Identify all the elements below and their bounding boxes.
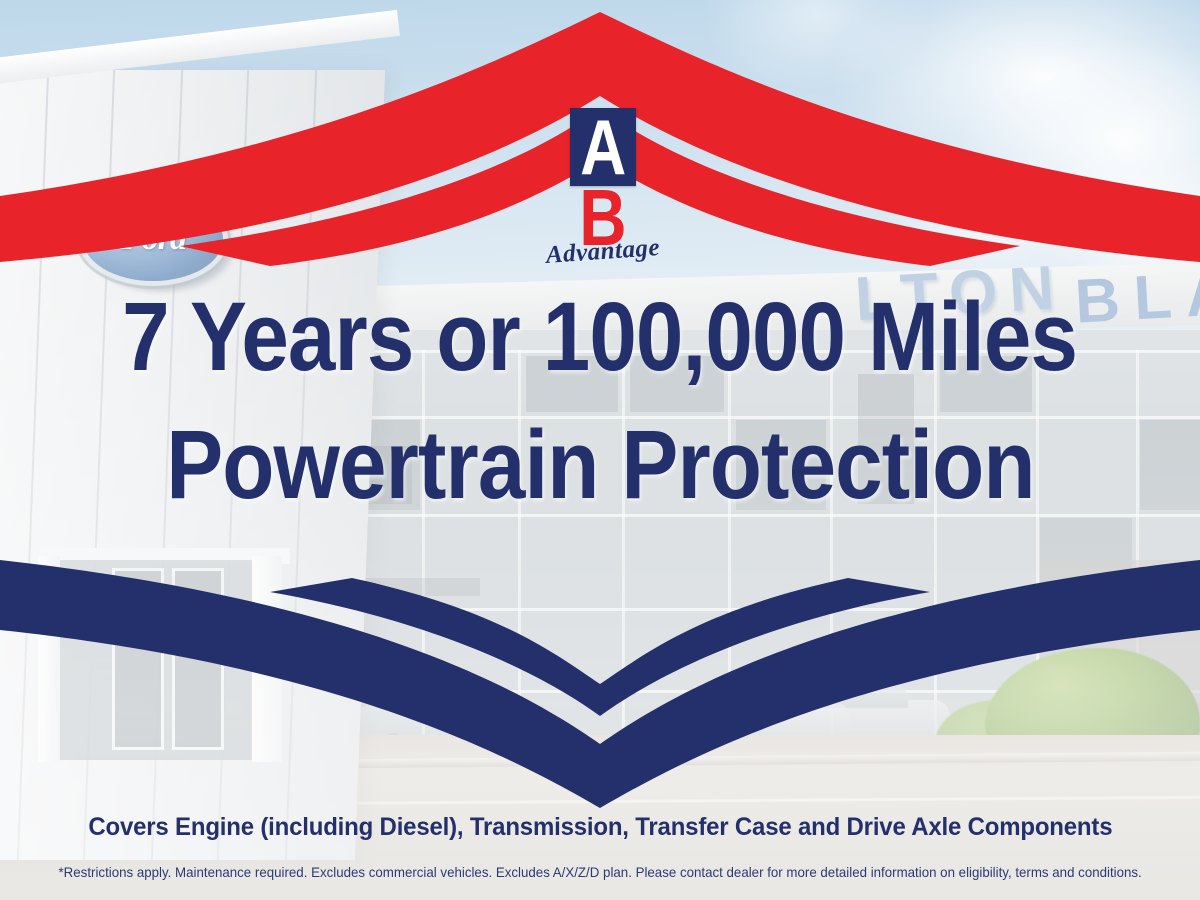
disclaimer-text: *Restrictions apply. Maintenance require… [58, 863, 1141, 881]
ab-advantage-logo: A B Advantage [548, 108, 658, 293]
headline-line-2: Powertrain Protection [0, 412, 1200, 517]
coverage-statement: Covers Engine (including Diesel), Transm… [0, 812, 1200, 842]
logo-script-text: Advantage [539, 234, 667, 271]
navy-chevron-graphic [0, 520, 1200, 820]
headline-line-2-text: Powertrain Protection [166, 412, 1034, 517]
coverage-statement-text: Covers Engine (including Diesel), Transm… [88, 812, 1112, 842]
disclaimer: *Restrictions apply. Maintenance require… [0, 863, 1200, 881]
logo-letter-a: A [580, 112, 626, 182]
headline-line-1: 7 Years or 100,000 Miles [0, 284, 1200, 389]
promo-banner: Ford LTON BLA A B Advantage 7 Years or 1… [0, 0, 1200, 900]
headline-line-1-text: 7 Years or 100,000 Miles [123, 284, 1078, 389]
